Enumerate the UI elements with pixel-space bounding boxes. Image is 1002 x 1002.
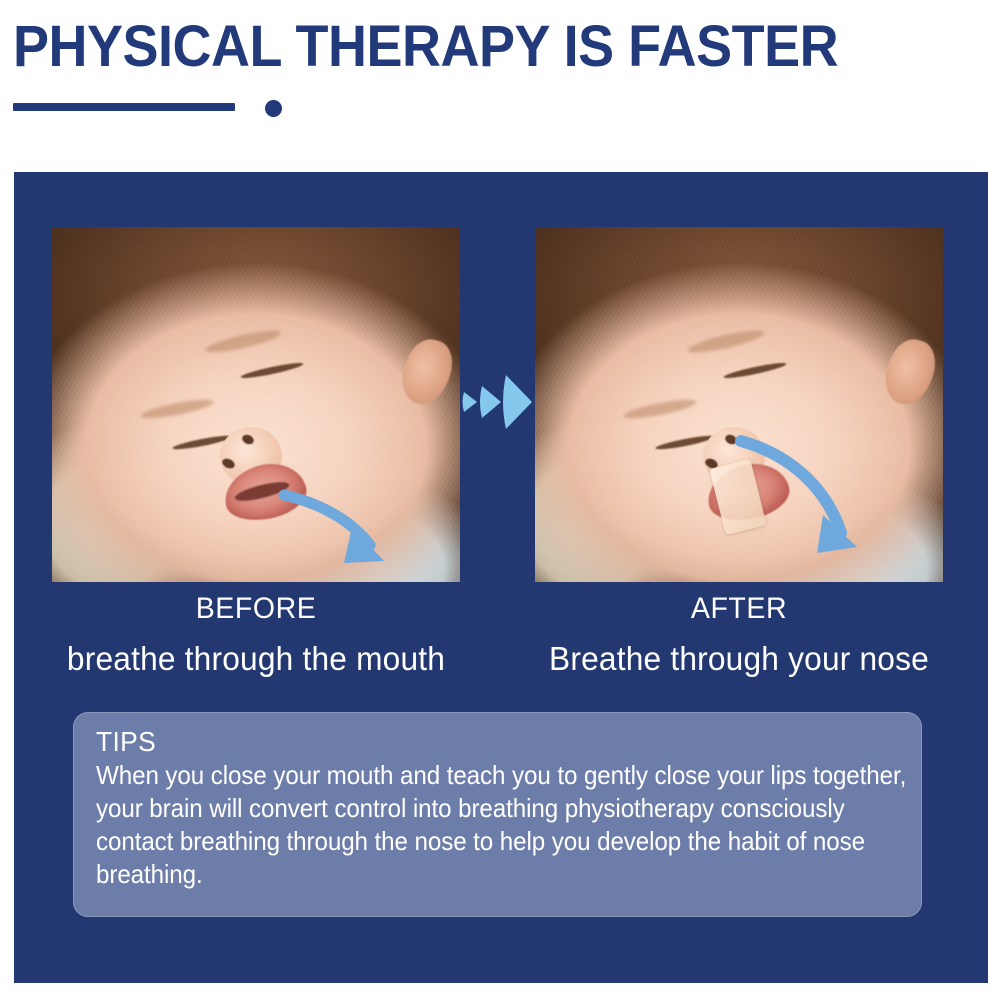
after-nose-airflow-arrow-icon: [535, 227, 943, 582]
tips-title: TIPS: [96, 727, 851, 757]
after-photo: [535, 227, 943, 582]
underline-bar: [13, 103, 235, 111]
before-photo: [52, 227, 460, 582]
before-subtitle: breathe through the mouth: [60, 640, 452, 678]
promo-page: PHYSICAL THERAPY IS FASTER: [0, 0, 1002, 1002]
tips-box: TIPS When you close your mouth and teach…: [73, 712, 922, 917]
after-subtitle: Breathe through your nose: [543, 640, 935, 678]
triple-chevron-right-icon: [460, 367, 534, 437]
tips-body-text: When you close your mouth and teach you …: [96, 759, 914, 891]
page-header: PHYSICAL THERAPY IS FASTER: [0, 0, 1002, 160]
before-mouth-airflow-arrow-icon: [52, 227, 460, 582]
before-label: BEFORE: [62, 592, 450, 626]
page-title: PHYSICAL THERAPY IS FASTER: [13, 17, 838, 77]
after-caption-group: AFTER Breathe through your nose: [535, 592, 943, 678]
title-underline-group: [13, 100, 313, 118]
after-label: AFTER: [545, 592, 933, 626]
before-caption-group: BEFORE breathe through the mouth: [52, 592, 460, 678]
underline-dot-icon: [265, 100, 282, 117]
transition-chevrons: [460, 367, 534, 437]
comparison-panel: BEFORE breathe through the mouth AFTER B…: [14, 172, 988, 983]
